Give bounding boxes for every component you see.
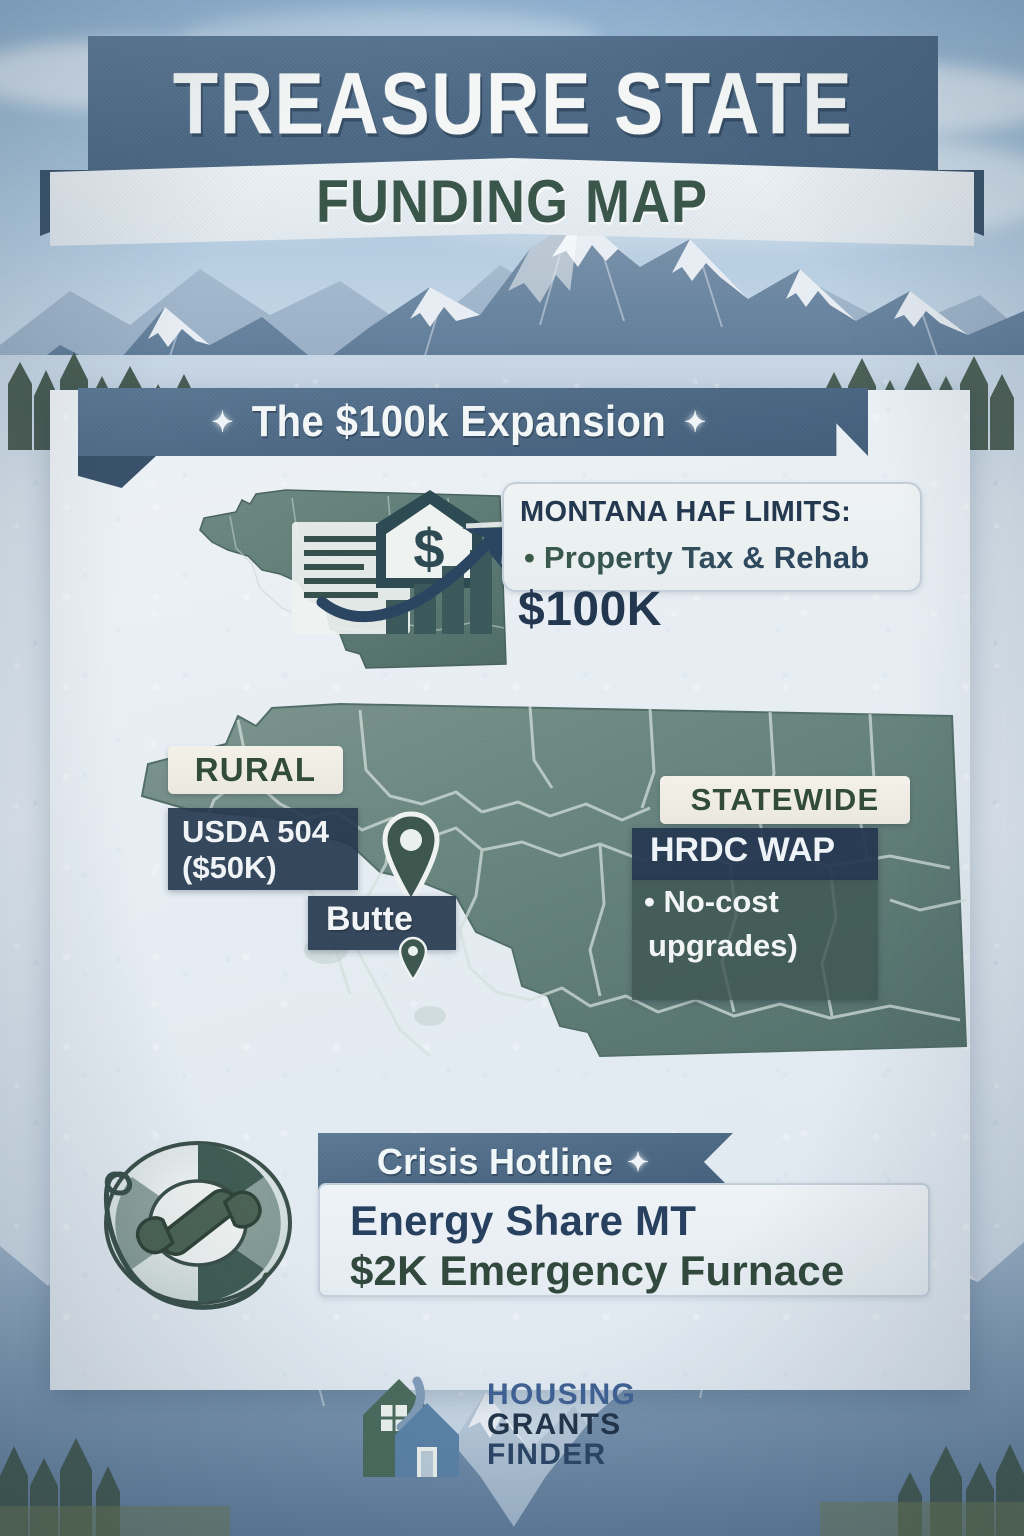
sparkle-icon-left: ✦ [212, 408, 234, 436]
sparkle-icon-right: ✦ [684, 408, 706, 436]
hrdc-wap-title: HRDC WAP [650, 831, 835, 870]
page-title: TREASURE STATE [88, 29, 938, 178]
haf-limits-bullet: • Property Tax & Rehab [524, 540, 954, 576]
hrdc-wap-line1: • No-cost [644, 884, 779, 920]
sub-banner-label: The $100k Expansion [252, 398, 666, 447]
badge-rural-label: RURAL [195, 751, 316, 789]
two-houses-logo-icon [355, 1369, 473, 1481]
butte-label: Butte [326, 900, 413, 939]
haf-limits-section: $ MONTANA HAF LIMITS: • Property Tax & R… [50, 460, 970, 690]
badge-statewide: STATEWIDE [660, 776, 910, 824]
sparkle-icon-crisis: ✦ [627, 1149, 649, 1175]
brand-logo-line2: GRANTS [487, 1410, 636, 1440]
secondary-pin-icon[interactable] [398, 936, 428, 982]
crisis-ribbon-label: Crisis Hotline [377, 1141, 613, 1183]
brand-logo-line1: HOUSING [487, 1380, 636, 1410]
brand-logo-text: HOUSING GRANTS FINDER [487, 1380, 636, 1470]
haf-limits-title: MONTANA HAF LIMITS: [520, 496, 940, 529]
haf-limits-amount: $100K [518, 582, 662, 637]
badge-rural: RURAL [168, 746, 343, 794]
usda-504-info-box: USDA 504 ($50K) [168, 808, 358, 890]
badge-statewide-label: STATEWIDE [691, 782, 880, 818]
usda-504-line2: ($50K) [182, 850, 277, 886]
brand-logo: HOUSING GRANTS FINDER [355, 1360, 675, 1490]
butte-label-box: Butte [308, 896, 456, 950]
svg-text:$: $ [413, 517, 444, 580]
title-banner: TREASURE STATE FUNDING MAP [0, 36, 1024, 241]
life-ring-phone-icon [98, 1135, 298, 1315]
hrdc-wap-body-box: • No-cost upgrades) [632, 880, 878, 1000]
page-subtitle: FUNDING MAP [50, 159, 974, 244]
crisis-hotline-org: Energy Share MT [350, 1197, 950, 1245]
crisis-hotline-benefit: $2K Emergency Furnace [350, 1247, 970, 1295]
montana-funding-map-section: RURAL USDA 504 ($50K) Butte STATEWIDE HR… [50, 700, 970, 1120]
usda-504-line1: USDA 504 [182, 814, 329, 850]
hrdc-wap-header-box: HRDC WAP [632, 828, 878, 880]
hrdc-wap-line2: upgrades) [648, 928, 798, 964]
butte-pin-icon[interactable] [380, 810, 442, 906]
brand-logo-line3: FINDER [487, 1440, 636, 1470]
crisis-hotline-section: Crisis Hotline ✦ Energy Share MT $2K Eme… [50, 1125, 970, 1325]
section-banner-expansion: ✦ The $100k Expansion ✦ [0, 388, 1024, 480]
montana-house-dollar-chart-icon: $ [190, 478, 520, 678]
sub-banner-label-group: ✦ The $100k Expansion ✦ [78, 385, 840, 458]
